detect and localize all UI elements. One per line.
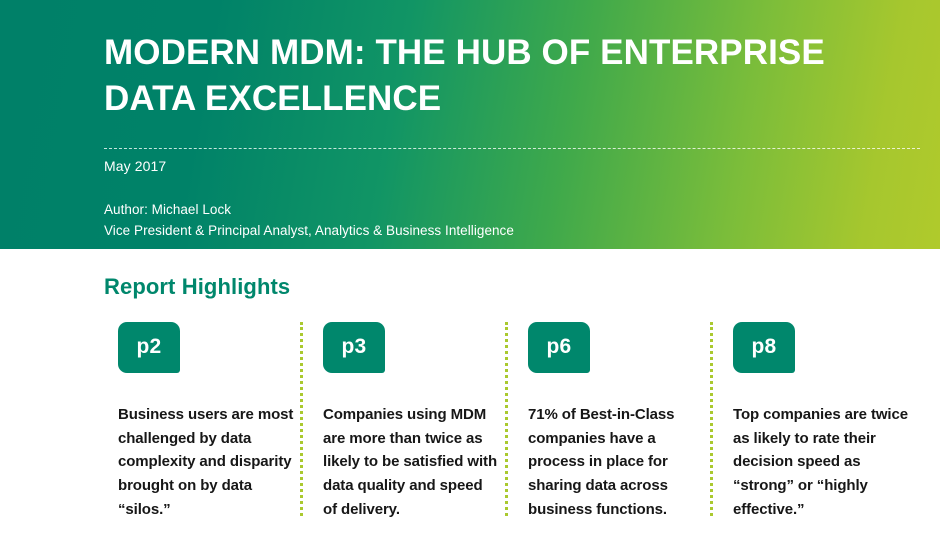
report-cover-page: MODERN MDM: THE HUB OF ENTERPRISE DATA E… xyxy=(0,0,940,558)
highlight-card: p6 71% of Best-in-Class companies have a… xyxy=(514,322,704,521)
highlight-text: Top companies are twice as likely to rat… xyxy=(733,403,909,521)
banner-content: MODERN MDM: THE HUB OF ENTERPRISE DATA E… xyxy=(104,0,918,249)
author-block: Author: Michael Lock Vice President & Pr… xyxy=(104,200,514,242)
highlight-text: Business users are most challenged by da… xyxy=(118,403,294,521)
page-badge[interactable]: p2 xyxy=(118,322,180,373)
column-divider xyxy=(499,322,514,516)
highlight-card: p3 Companies using MDM are more than twi… xyxy=(309,322,499,521)
page-badge[interactable]: p8 xyxy=(733,322,795,373)
page-badge-label: p2 xyxy=(137,335,162,359)
report-highlights-section: Report Highlights p2 Business users are … xyxy=(0,249,940,558)
header-banner: MODERN MDM: THE HUB OF ENTERPRISE DATA E… xyxy=(0,0,940,249)
author-title: Vice President & Principal Analyst, Anal… xyxy=(104,221,514,242)
column-divider xyxy=(294,322,309,516)
banner-divider xyxy=(104,148,920,149)
highlight-cards: p2 Business users are most challenged by… xyxy=(104,322,914,522)
page-badge-label: p3 xyxy=(342,335,367,359)
publication-date: May 2017 xyxy=(104,158,166,174)
column-divider xyxy=(704,322,719,516)
page-badge-label: p8 xyxy=(752,335,777,359)
author-name: Author: Michael Lock xyxy=(104,200,514,221)
highlight-text: Companies using MDM are more than twice … xyxy=(323,403,499,521)
highlight-text: 71% of Best-in-Class companies have a pr… xyxy=(528,403,704,521)
page-title: MODERN MDM: THE HUB OF ENTERPRISE DATA E… xyxy=(104,30,894,122)
section-heading: Report Highlights xyxy=(104,274,290,300)
highlight-card: p2 Business users are most challenged by… xyxy=(104,322,294,521)
highlight-card: p8 Top companies are twice as likely to … xyxy=(719,322,909,521)
page-badge-label: p6 xyxy=(547,335,572,359)
page-badge[interactable]: p3 xyxy=(323,322,385,373)
page-badge[interactable]: p6 xyxy=(528,322,590,373)
